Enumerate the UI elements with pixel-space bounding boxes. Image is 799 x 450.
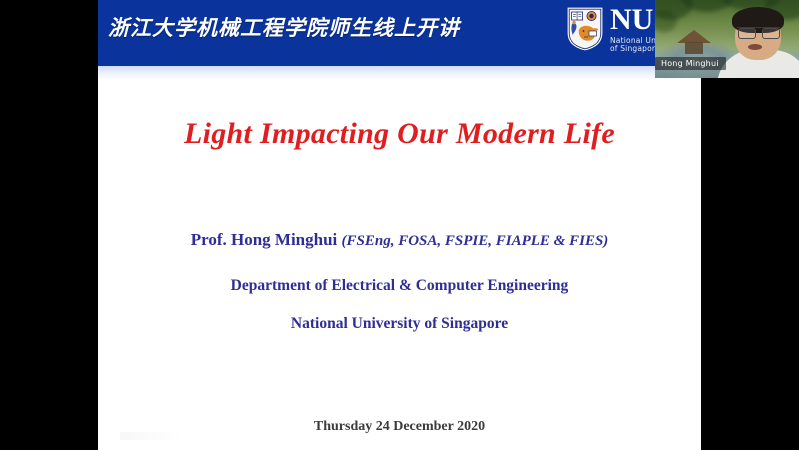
slide-title: Light Impacting Our Modern Life xyxy=(98,117,701,151)
slide-header-banner: 浙江大学机械工程学院师生线上开讲 xyxy=(98,0,701,66)
speaker-university: National University of Singapore xyxy=(98,315,701,333)
slide-faint-mark xyxy=(120,432,210,440)
glasses-icon xyxy=(737,27,780,37)
gazebo-body xyxy=(685,42,703,54)
video-call-screen: 浙江大学机械工程学院师生线上开讲 xyxy=(0,0,799,450)
glasses-lens-right xyxy=(762,28,780,39)
speaker-name: Prof. Hong Minghui xyxy=(191,230,342,249)
participant-name-label: Hong Minghui xyxy=(655,57,726,70)
glasses-lens-left xyxy=(738,28,756,39)
participant-silhouette xyxy=(717,6,799,78)
banner-title-chinese: 浙江大学机械工程学院师生线上开讲 xyxy=(108,12,460,42)
speaker-fellowships: (FSEng, FOSA, FSPIE, FIAPLE & FIES) xyxy=(342,233,609,249)
banner-underglow xyxy=(98,66,701,80)
speaker-department: Department of Electrical & Computer Engi… xyxy=(98,277,701,295)
person-mouth xyxy=(748,44,762,50)
nus-crest-icon xyxy=(566,6,604,52)
speaker-line: Prof. Hong Minghui (FSEng, FOSA, FSPIE, … xyxy=(98,230,701,250)
participant-video-tile[interactable]: Hong Minghui xyxy=(655,0,799,78)
presentation-slide: 浙江大学机械工程学院师生线上开讲 xyxy=(98,0,701,450)
gazebo-icon xyxy=(677,30,711,54)
